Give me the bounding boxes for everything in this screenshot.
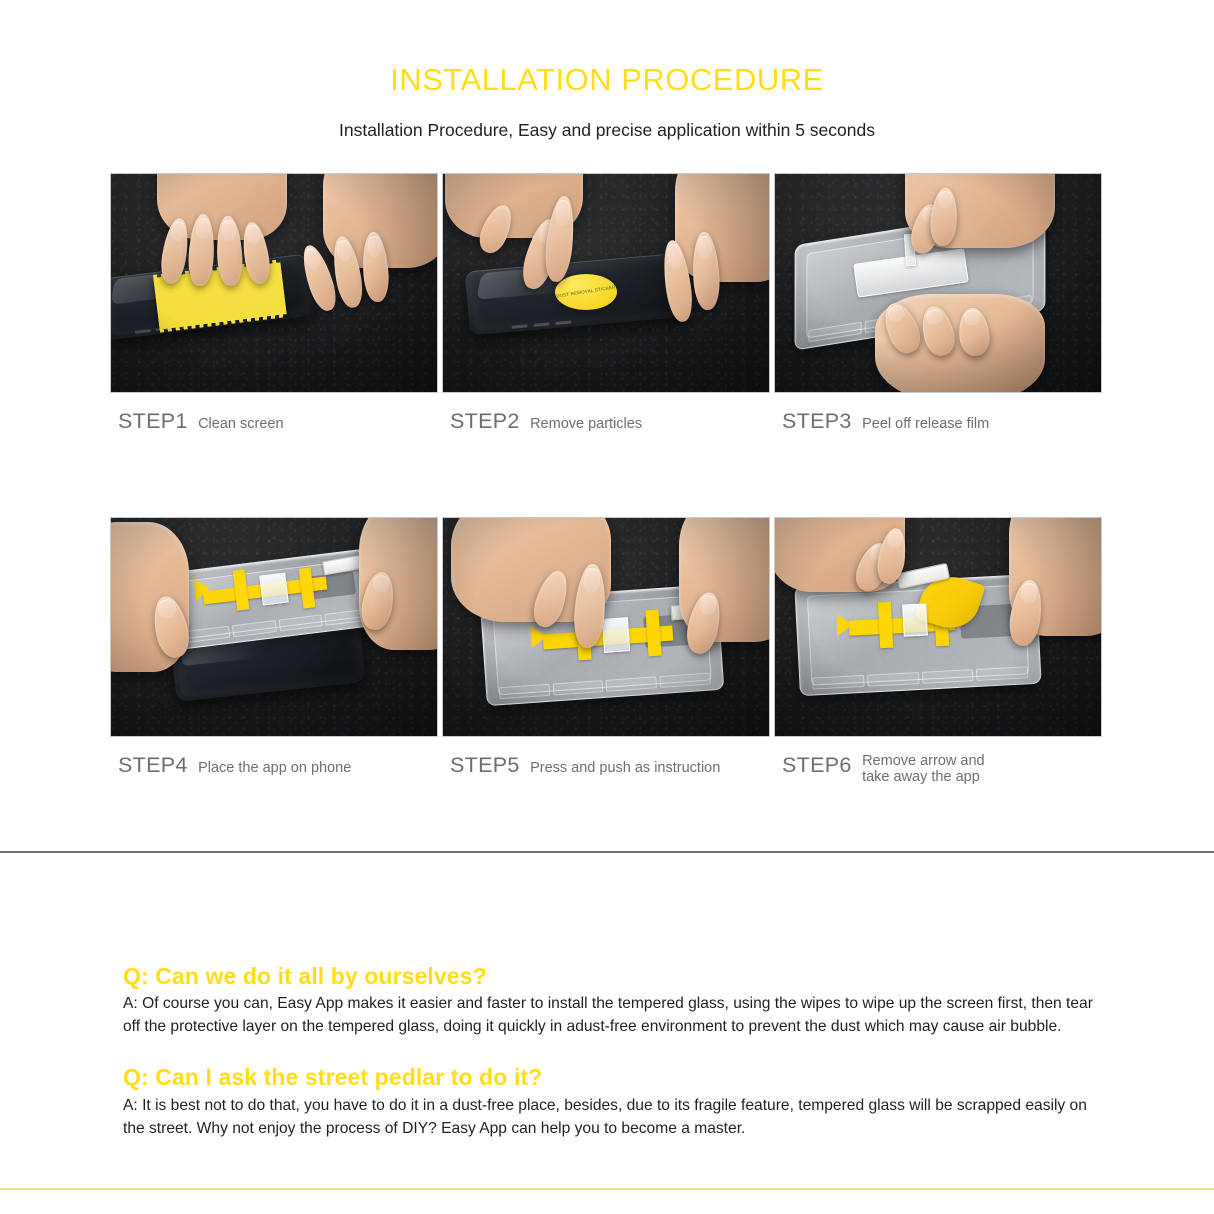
step-description: Remove arrow andtake away the app (862, 753, 985, 785)
faq-question: Q: Can we do it all by ourselves? (123, 963, 1093, 989)
step-cell-5: STEP5 Press and push as instruction (442, 517, 770, 785)
installation-steps-grid: STEP1 Clean screen DUST REMOVAL STICKER (110, 140, 1104, 785)
faq-question: Q: Can I ask the street pedlar to do it? (123, 1064, 1093, 1090)
step-description-line1: Remove arrow and (862, 753, 985, 769)
step-caption-2: STEP2 Remove particles (442, 393, 770, 434)
step-caption-3: STEP3 Peel off release film (774, 393, 1102, 434)
step-description: Place the app on phone (198, 760, 351, 776)
photo-vignette (775, 518, 1101, 736)
photo-vignette (111, 174, 437, 392)
step-label: STEP4 (118, 753, 188, 777)
faq-item-2: Q: Can I ask the street pedlar to do it?… (123, 1039, 1093, 1140)
faq-answer: A: Of course you can, Easy App makes it … (123, 989, 1093, 1039)
step-photo-remove-arrow (774, 517, 1102, 737)
photo-vignette (443, 174, 769, 392)
step-caption-5: STEP5 Press and push as instruction (442, 737, 770, 778)
step-cell-2: DUST REMOVAL STICKER STEP2 Remove partic… (442, 173, 770, 434)
step-description: Press and push as instruction (530, 760, 720, 776)
photo-vignette (111, 518, 437, 736)
photo-vignette (443, 518, 769, 736)
step-description: Clean screen (198, 416, 283, 432)
faq-answer: A: It is best not to do that, you have t… (123, 1091, 1093, 1141)
step-cell-3: STEP3 Peel off release film (774, 173, 1102, 434)
step-photo-peel-release-film (774, 173, 1102, 393)
step-cell-1: STEP1 Clean screen (110, 173, 438, 434)
page-subtitle: Installation Procedure, Easy and precise… (0, 95, 1214, 140)
footer-divider-yellow (0, 1188, 1214, 1190)
step-label: STEP5 (450, 753, 520, 777)
step-row-1: STEP1 Clean screen DUST REMOVAL STICKER (110, 173, 1104, 434)
step-description-line2: take away the app (862, 769, 985, 785)
step-cell-4: STEP4 Place the app on phone (110, 517, 438, 785)
section-divider-gray (0, 851, 1214, 853)
photo-vignette (775, 174, 1101, 392)
step-photo-place-app (110, 517, 438, 737)
step-cell-6: STEP6 Remove arrow andtake away the app (774, 517, 1102, 785)
step-caption-6: STEP6 Remove arrow andtake away the app (774, 737, 1102, 785)
page-title: INSTALLATION PROCEDURE (0, 0, 1214, 95)
step-caption-4: STEP4 Place the app on phone (110, 737, 438, 778)
faq-item-1: Q: Can we do it all by ourselves? A: Of … (123, 963, 1093, 1039)
step-photo-clean-screen (110, 173, 438, 393)
step-label: STEP6 (782, 753, 852, 777)
step-label: STEP2 (450, 409, 520, 433)
step-description: Remove particles (530, 416, 642, 432)
step-photo-press-push (442, 517, 770, 737)
step-photo-remove-particles: DUST REMOVAL STICKER (442, 173, 770, 393)
step-caption-1: STEP1 Clean screen (110, 393, 438, 434)
step-description: Peel off release film (862, 416, 989, 432)
step-label: STEP3 (782, 409, 852, 433)
step-label: STEP1 (118, 409, 188, 433)
step-row-2: STEP4 Place the app on phone (110, 517, 1104, 785)
faq-section: Q: Can we do it all by ourselves? A: Of … (123, 963, 1093, 1141)
